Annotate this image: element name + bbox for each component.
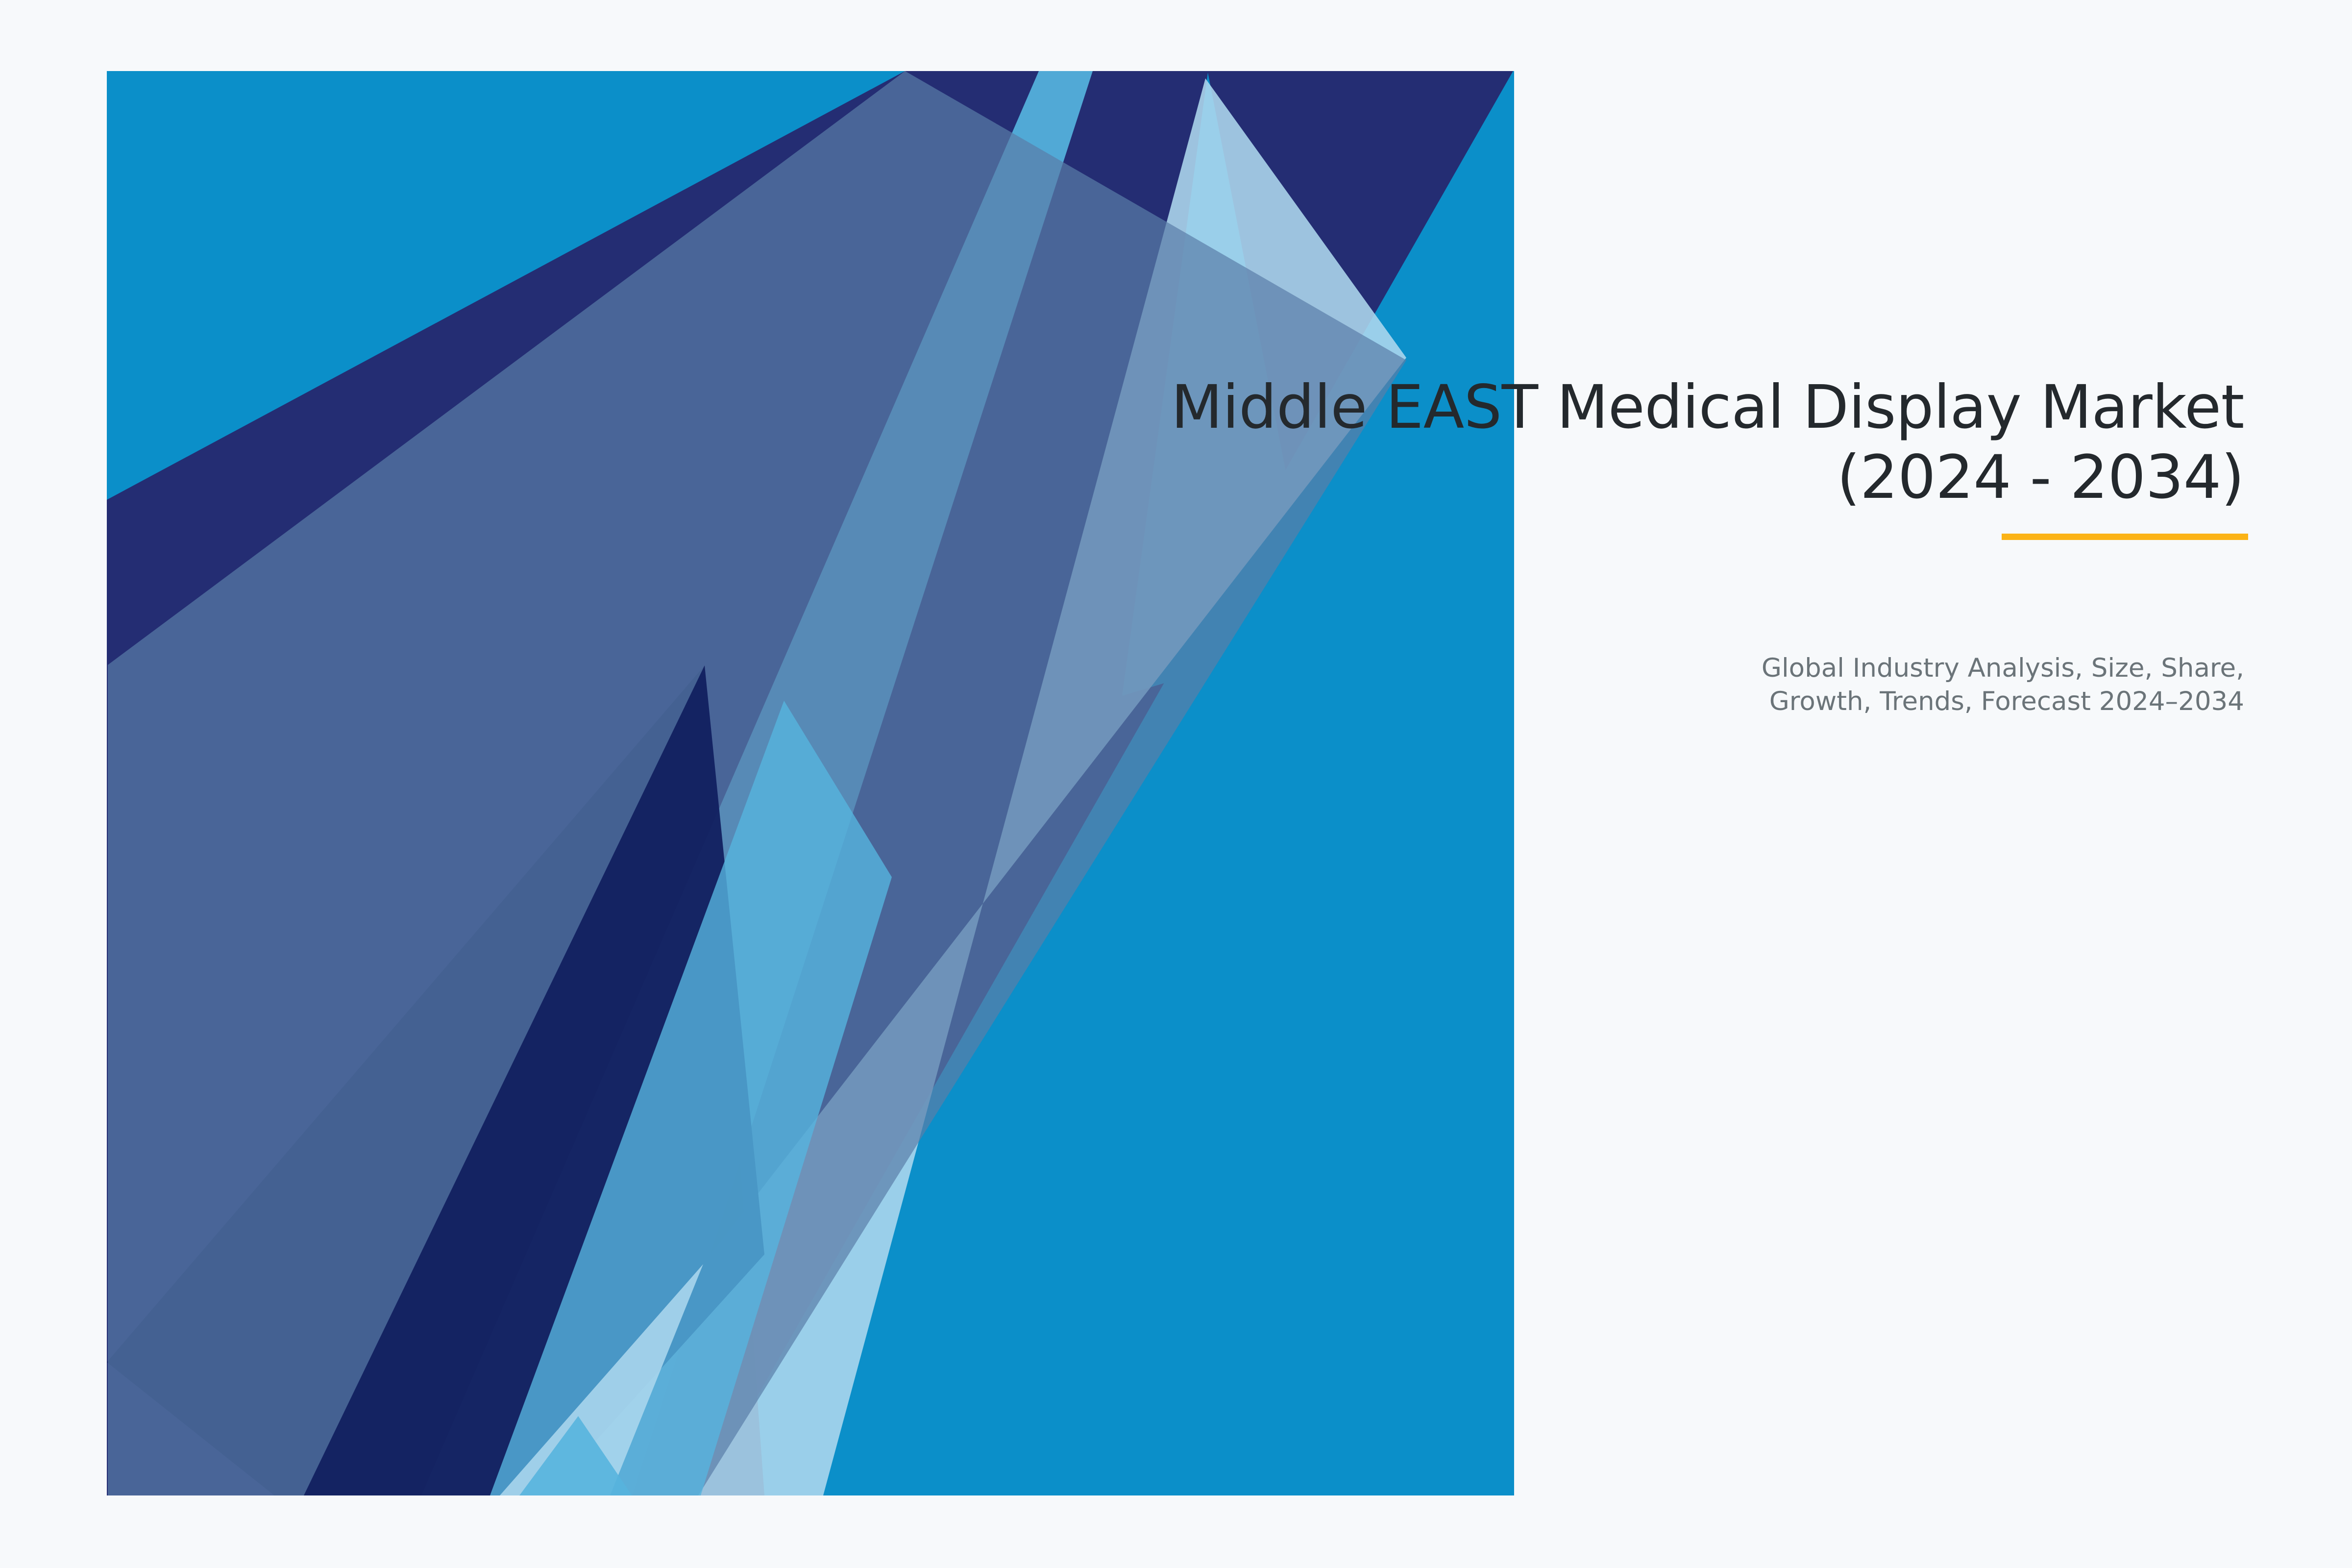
page-title: Middle EAST Medical Display Market (2024… (833, 372, 2244, 512)
deep-navy-lower-wedge (107, 665, 764, 1495)
deep-navy-spike-overlay (304, 665, 764, 1495)
steel-blue-translucent-quad (108, 71, 1406, 1495)
pale-blue-translucent-band (495, 78, 1406, 1495)
cover-text-block: Middle EAST Medical Display Market (2024… (833, 372, 2244, 512)
navy-right-wedge-2 (107, 71, 1513, 1495)
cyan-top-left-block (107, 71, 1514, 1495)
sky-blue-lower-band (490, 701, 892, 1495)
sky-blue-diagonal-band (421, 71, 1093, 1495)
navy-right-wedge (107, 71, 1513, 1495)
pale-blue-lower-tail (500, 1264, 703, 1495)
sky-blue-bottom-triangle (519, 1416, 632, 1495)
report-cover-page: Middle EAST Medical Display Market (2024… (0, 0, 2352, 1568)
title-underline-accent (2002, 534, 2248, 540)
page-subtitle: Global Industry Analysis, Size, Share, G… (1323, 652, 2244, 718)
cover-artwork (0, 0, 2352, 1568)
